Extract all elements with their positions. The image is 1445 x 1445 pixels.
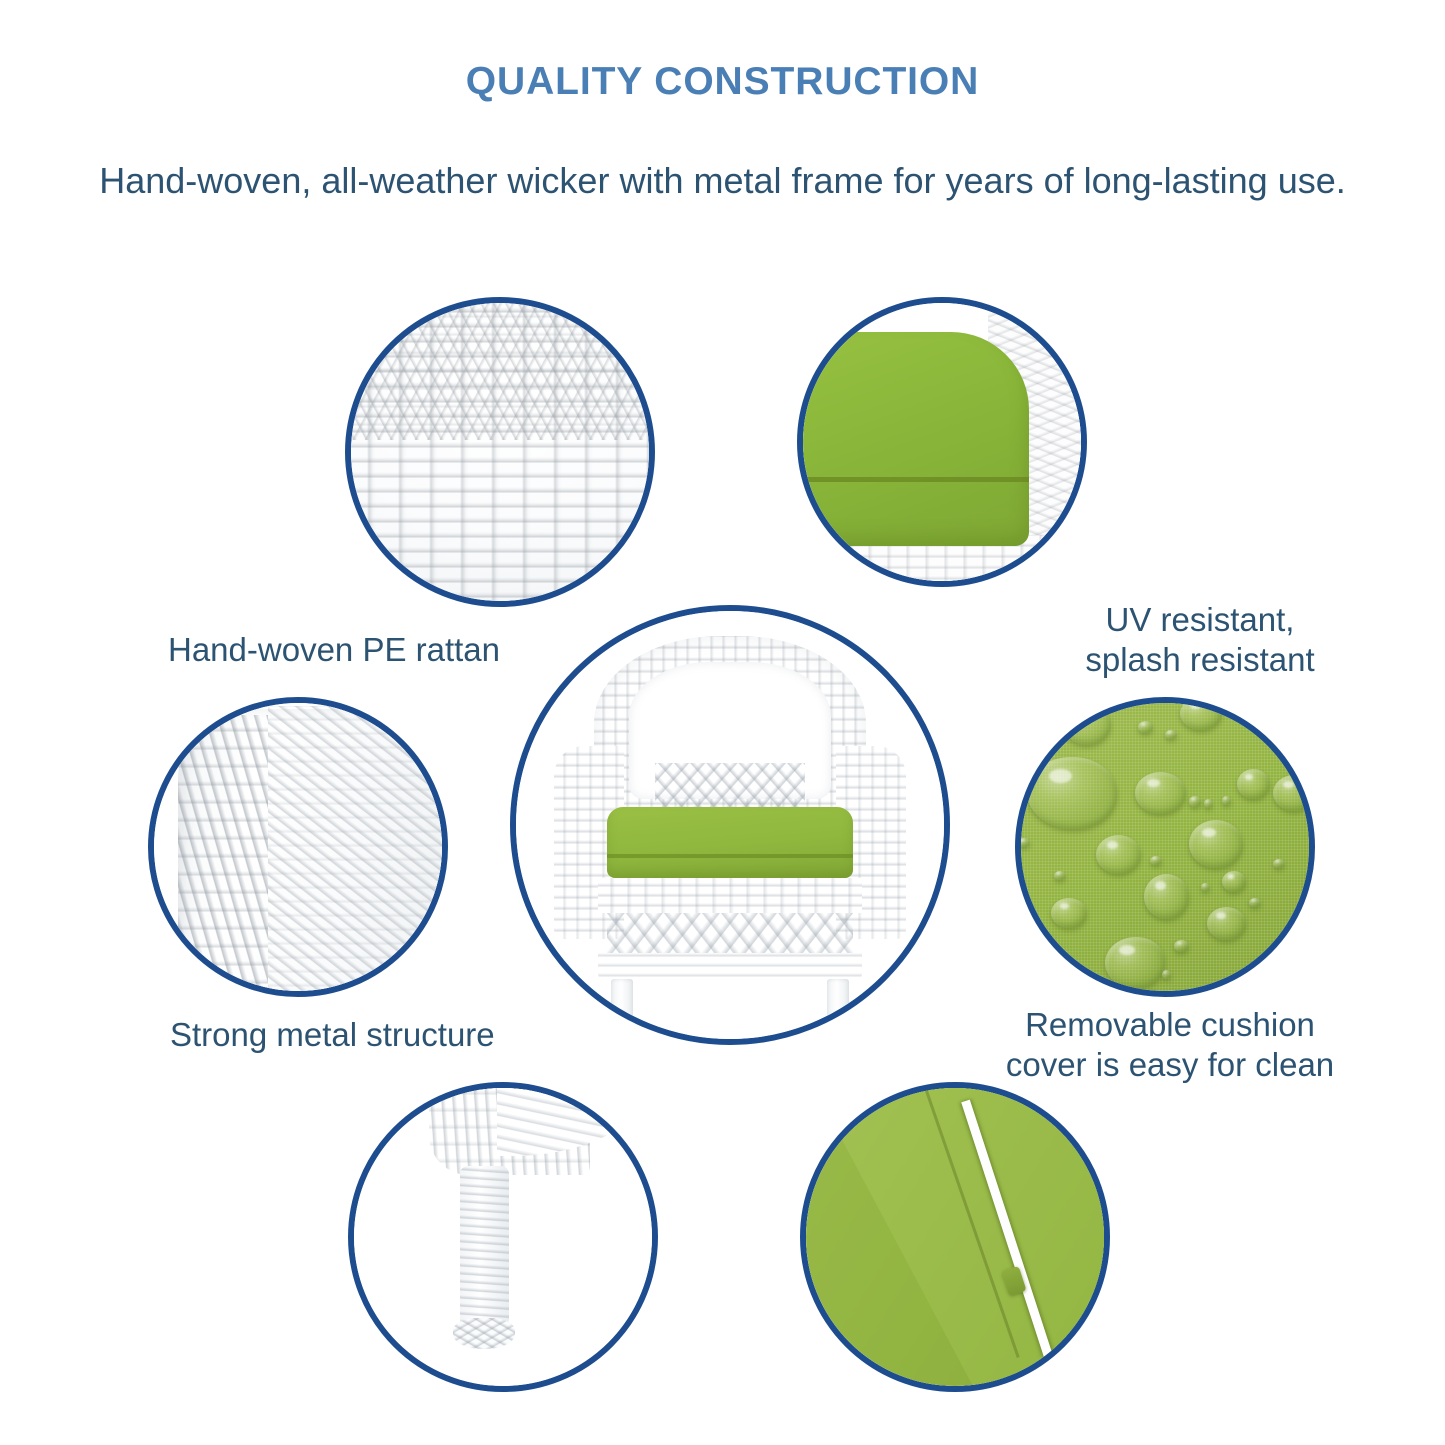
water-droplets-texture [1015,697,1315,997]
page-subtitle: Hand-woven, all-weather wicker with meta… [0,160,1445,202]
zipper-texture [800,1082,1110,1392]
uv-splash-resistant-image [797,297,1087,587]
page-title: QUALITY CONSTRUCTION [0,60,1445,104]
chair-arm-corner-texture [148,697,448,997]
white-wicker-chair-illustration [510,605,950,1045]
removable-cushion-cover-image [1015,697,1315,997]
strong-metal-structure-image [148,697,448,997]
green-cushion-texture [797,297,1087,587]
removable-cushion-cover-caption: Removable cushion cover is easy for clea… [995,1005,1345,1086]
cushion-zipper-detail-image [800,1082,1110,1392]
chair-leg-texture [348,1082,658,1392]
uv-splash-resistant-caption: UV resistant, splash resistant [1040,600,1360,681]
full-chair-image [510,605,950,1045]
rattan-weave-texture [345,297,655,607]
chair-leg-detail-image [348,1082,658,1392]
hand-woven-pe-rattan-image [345,297,655,607]
